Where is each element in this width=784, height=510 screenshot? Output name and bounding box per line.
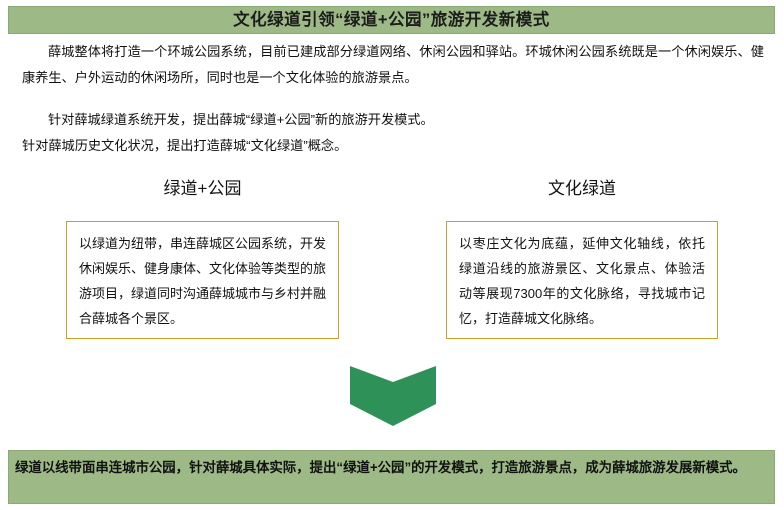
- page-title: 文化绿道引领“绿道+公园”旅游开发新模式: [233, 12, 550, 29]
- text-box-cultural-greenway-content: 以枣庄文化为底蕴，延伸文化轴线，依托绿道沿线的旅游景区、文化景点、体验活动等展现…: [459, 231, 705, 331]
- body-paragraph-3: 针对薛城历史文化状况，提出打造薛城“文化绿道”概念。: [22, 133, 764, 159]
- bottom-summary-banner: 绿道以线带面串连城市公园，针对薛城具体实际，提出“绿道+公园”的开发模式，打造旅…: [8, 450, 775, 504]
- text-box-greenway-park: 以绿道为纽带，串连薛城区公园系统，开发休闲娱乐、健身康体、文化体验等类型的旅游项…: [66, 221, 339, 339]
- text-box-greenway-park-content: 以绿道为纽带，串连薛城区公园系统，开发休闲娱乐、健身康体、文化体验等类型的旅游项…: [79, 231, 326, 331]
- bottom-summary-text: 绿道以线带面串连城市公园，针对薛城具体实际，提出“绿道+公园”的开发模式，打造旅…: [15, 455, 766, 480]
- body-paragraph-2: 针对薛城绿道系统开发，提出薛城“绿道+公园”新的旅游开发模式。: [22, 107, 764, 133]
- text-box-cultural-greenway: 以枣庄文化为底蕴，延伸文化轴线，依托绿道沿线的旅游景区、文化景点、体验活动等展现…: [446, 221, 718, 339]
- chevron-down-arrow-shape: [350, 366, 436, 426]
- title-banner: 文化绿道引领“绿道+公园”旅游开发新模式: [8, 6, 775, 34]
- chevron-down-arrow-icon: [350, 366, 436, 426]
- body-paragraph-1: 薛城整体将打造一个环城公园系统，目前已建成部分绿道网络、休闲公园和驿站。环城休闲…: [22, 39, 764, 91]
- column-heading-greenway-park: 绿道+公园: [66, 180, 339, 197]
- slide-canvas: 文化绿道引领“绿道+公园”旅游开发新模式 薛城整体将打造一个环城公园系统，目前已…: [0, 0, 784, 510]
- column-heading-cultural-greenway: 文化绿道: [446, 180, 718, 197]
